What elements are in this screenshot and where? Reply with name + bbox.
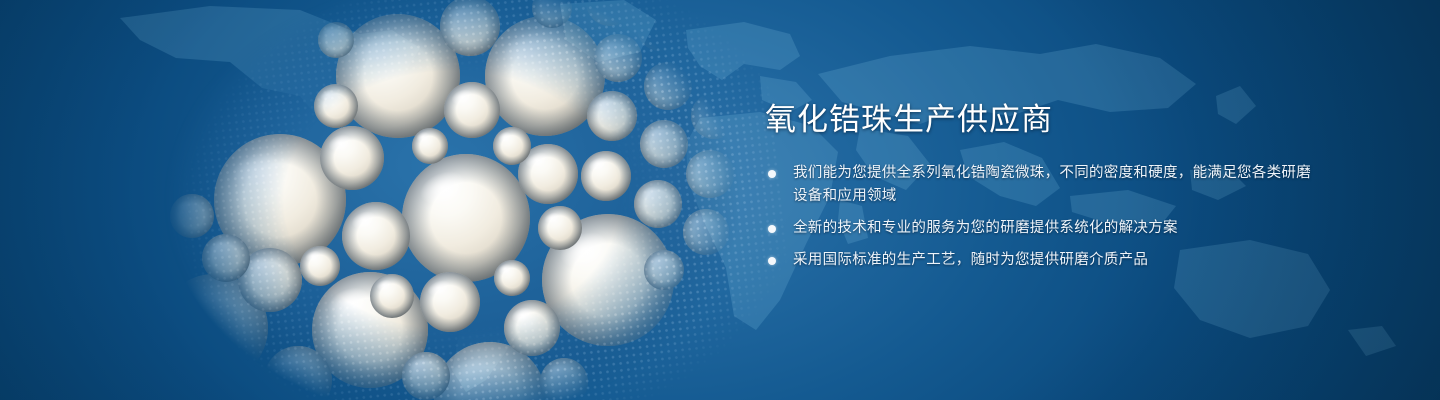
bullet-dot-icon bbox=[768, 170, 776, 178]
banner-content: 氧化锆珠生产供应商 我们能为您提供全系列氧化锆陶瓷微珠，不同的密度和硬度，能满足… bbox=[763, 100, 1323, 272]
zirconia-ceramic-beads-photo bbox=[140, 0, 740, 400]
list-item-label: 采用国际标准的生产工艺，随时为您提供研磨介质产品 bbox=[793, 249, 1323, 272]
hero-banner: 氧化锆珠生产供应商 我们能为您提供全系列氧化锆陶瓷微珠，不同的密度和硬度，能满足… bbox=[0, 0, 1440, 400]
page-title: 氧化锆珠生产供应商 bbox=[765, 100, 1323, 140]
list-item-label: 全新的技术和专业的服务为您的研磨提供系统化的解决方案 bbox=[793, 217, 1323, 240]
list-item: 全新的技术和专业的服务为您的研磨提供系统化的解决方案 bbox=[763, 217, 1323, 240]
list-item: 采用国际标准的生产工艺，随时为您提供研磨介质产品 bbox=[763, 249, 1323, 272]
list-item-label: 我们能为您提供全系列氧化锆陶瓷微珠，不同的密度和硬度，能满足您各类研磨设备和应用… bbox=[793, 162, 1323, 208]
bullet-dot-icon bbox=[768, 225, 776, 233]
list-item: 我们能为您提供全系列氧化锆陶瓷微珠，不同的密度和硬度，能满足您各类研磨设备和应用… bbox=[763, 162, 1323, 208]
feature-list: 我们能为您提供全系列氧化锆陶瓷微珠，不同的密度和硬度，能满足您各类研磨设备和应用… bbox=[763, 162, 1323, 272]
bullet-dot-icon bbox=[768, 257, 776, 265]
